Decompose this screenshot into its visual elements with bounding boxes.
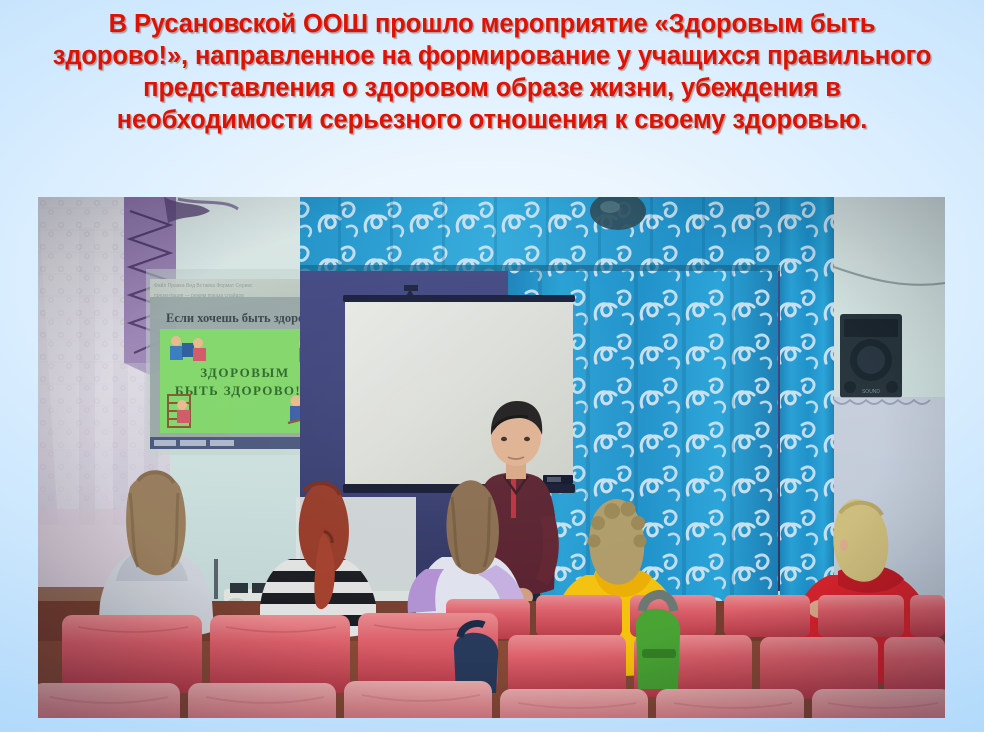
title-line-3: представления о здоровом образе жизни, у… [18,72,966,104]
presentation-slide: В Русановской ООШ прошло мероприятие «Зд… [0,0,984,732]
title-line-4: необходимости серьезного отношения к сво… [18,104,966,136]
title-line-2: здорово!», направленное на формирование … [18,40,966,72]
photo-tint [38,197,945,718]
event-photograph: Файл Правка Вид Вставка Формат Сервис пр… [38,197,945,718]
photo-scene: Файл Правка Вид Вставка Формат Сервис пр… [38,197,945,718]
title-line-1: В Русановской ООШ прошло мероприятие «Зд… [18,8,966,40]
slide-title: В Русановской ООШ прошло мероприятие «Зд… [0,8,984,136]
